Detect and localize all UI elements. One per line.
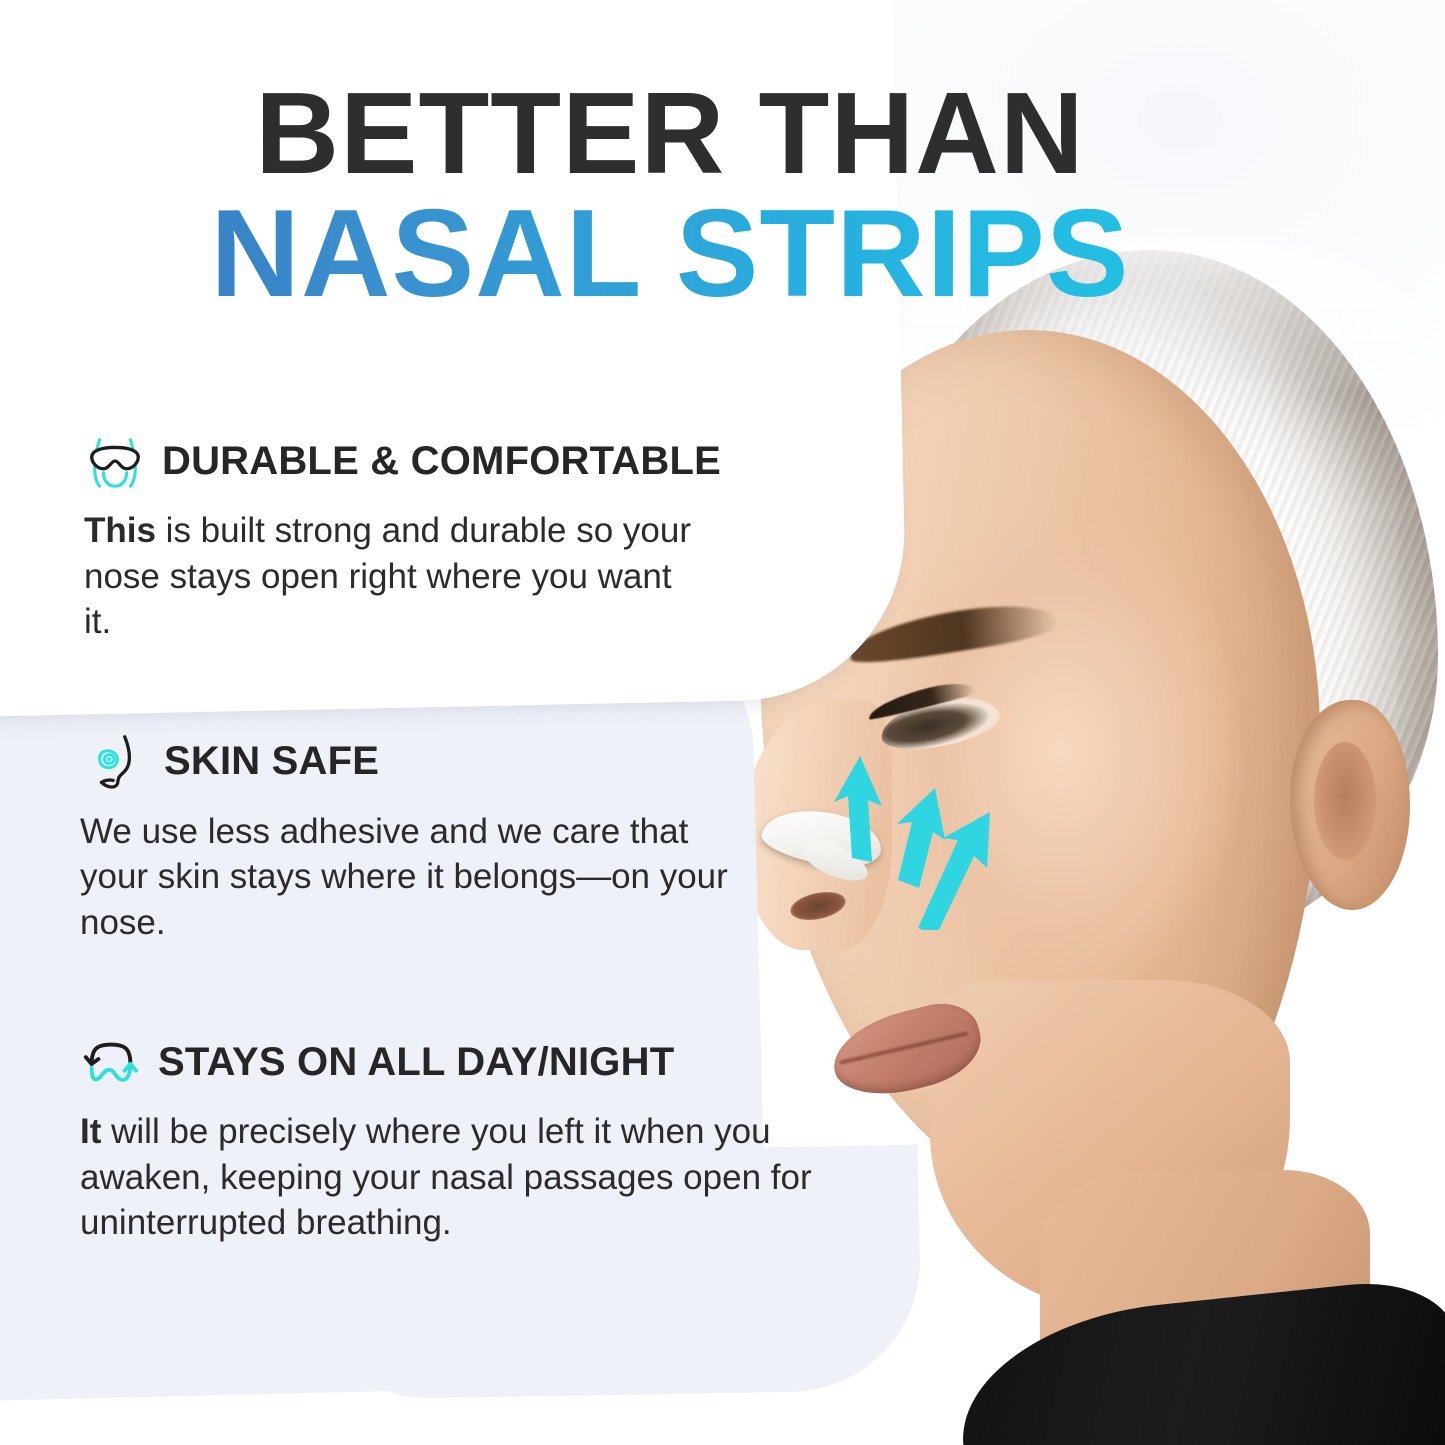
feature-title: SKIN SAFE — [164, 739, 379, 784]
headline-line-1: BETTER THAN — [0, 78, 1340, 189]
ear-inner — [1314, 742, 1376, 860]
nose-profile-patch-icon — [86, 731, 148, 793]
feature-heading-row: SKIN SAFE — [0, 731, 920, 793]
feature-body: It will be precisely where you left it w… — [0, 1109, 910, 1246]
feature-heading-row: STAYS ON ALL DAY/NIGHT — [0, 1031, 920, 1093]
headline-line-2: NASAL STRIPS — [0, 195, 1340, 314]
feature-body-lead: This — [84, 511, 156, 550]
feature-body: This is built strong and durable so your… — [0, 508, 704, 645]
feature-body: We use less adhesive and we care that yo… — [0, 809, 740, 946]
product-infographic: BETTER THAN NASAL STRIPS DURABLE & COMFO… — [0, 0, 1445, 1445]
feature-list: DURABLE & COMFORTABLE This is built stro… — [0, 430, 920, 1246]
feature-body-lead: It — [80, 1112, 101, 1151]
feature-body-text: is built strong and durable so your nose… — [84, 511, 691, 641]
strip-cycle-icon — [80, 1031, 142, 1093]
feature-title: DURABLE & COMFORTABLE — [162, 439, 721, 484]
page-title: BETTER THAN NASAL STRIPS — [0, 78, 1340, 314]
feature-body-text: will be precisely where you left it when… — [80, 1112, 812, 1242]
feature-durable-comfortable: DURABLE & COMFORTABLE This is built stro… — [0, 430, 920, 645]
nose-front-airflow-icon — [84, 430, 146, 492]
feature-heading-row: DURABLE & COMFORTABLE — [0, 430, 920, 492]
feature-body-text: We use less adhesive and we care that yo… — [80, 812, 728, 942]
feature-title: STAYS ON ALL DAY/NIGHT — [158, 1040, 674, 1085]
feature-skin-safe: SKIN SAFE We use less adhesive and we ca… — [0, 731, 920, 946]
feature-stays-on-all-day-night: STAYS ON ALL DAY/NIGHT It will be precis… — [0, 1031, 920, 1246]
